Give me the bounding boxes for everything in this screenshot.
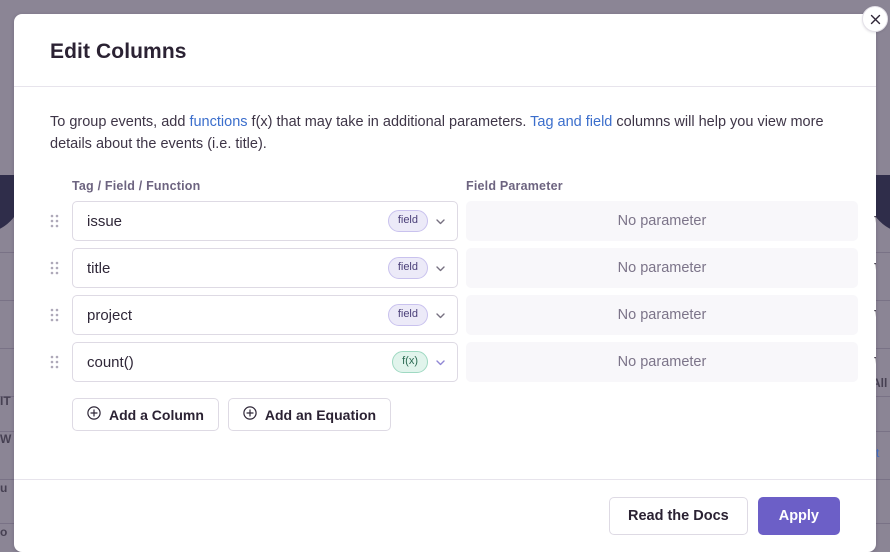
delete-column-button-0[interactable] [858,213,876,229]
background-text: o [0,525,7,539]
drag-handle-icon[interactable] [50,306,64,324]
background-text: IT [0,394,11,408]
chevron-down-icon [434,356,447,369]
column-headers: Tag / Field / Function Field Parameter [50,179,840,193]
modal-body: To group events, add functions f(x) that… [14,87,876,479]
column-header-field-parameter: Field Parameter [466,179,858,193]
plus-circle-icon [243,406,257,423]
background-text: W [0,432,11,446]
background-text: t [876,446,879,460]
field-parameter-0[interactable]: No parameter [466,201,858,241]
column-row: issue field No parameter [50,201,840,241]
add-a-column-button[interactable]: Add a Column [72,398,219,431]
column-select-3[interactable]: count() f(x) [72,342,458,382]
field-parameter-3[interactable]: No parameter [466,342,858,382]
column-kind-badge: field [388,257,428,279]
column-select-2[interactable]: project field [72,295,458,335]
delete-column-button-3[interactable] [858,354,876,370]
delete-column-button-1[interactable] [858,260,876,276]
column-select-0[interactable]: issue field [72,201,458,241]
drag-handle-icon[interactable] [50,212,64,230]
plus-circle-icon [87,406,101,423]
add-a-column-label: Add a Column [109,407,204,423]
column-name-label: issue [87,213,388,230]
chevron-down-icon [434,262,447,275]
modal-header: Edit Columns [14,14,876,87]
delete-column-button-2[interactable] [858,307,876,323]
apply-button[interactable]: Apply [758,497,840,535]
column-kind-badge: field [388,304,428,326]
edit-columns-modal: Edit Columns To group events, add functi… [14,14,876,552]
column-row: count() f(x) No parameter [50,342,840,382]
field-parameter-2[interactable]: No parameter [466,295,858,335]
chevron-down-icon [434,309,447,322]
column-row: project field No parameter [50,295,840,335]
functions-link[interactable]: functions [189,114,247,130]
read-the-docs-button[interactable]: Read the Docs [609,497,748,535]
column-name-label: project [87,307,388,324]
field-parameter-1[interactable]: No parameter [466,248,858,288]
drag-handle-icon[interactable] [50,259,64,277]
column-row: title field No parameter [50,248,840,288]
tag-and-field-link[interactable]: Tag and field [530,114,612,130]
drag-handle-icon[interactable] [50,353,64,371]
page-title: Edit Columns [50,40,840,64]
column-select-1[interactable]: title field [72,248,458,288]
column-rows-list: issue field No parameter [50,201,840,382]
column-name-label: count() [87,354,392,371]
chevron-down-icon [434,215,447,228]
column-name-label: title [87,260,388,277]
intro-description: To group events, add functions f(x) that… [50,111,840,155]
background-text: u [0,481,7,495]
intro-text-part1: To group events, add [50,114,189,130]
modal-footer: Read the Docs Apply [14,479,876,552]
column-kind-badge: field [388,210,428,232]
add-buttons-group: Add a Column Add an Equation [50,398,840,431]
close-icon[interactable] [862,6,888,32]
intro-text-part2: f(x) that may take in additional paramet… [248,114,531,130]
add-an-equation-button[interactable]: Add an Equation [228,398,391,431]
add-an-equation-label: Add an Equation [265,407,376,423]
column-header-tag-field-function: Tag / Field / Function [72,179,458,193]
column-kind-badge: f(x) [392,351,428,373]
